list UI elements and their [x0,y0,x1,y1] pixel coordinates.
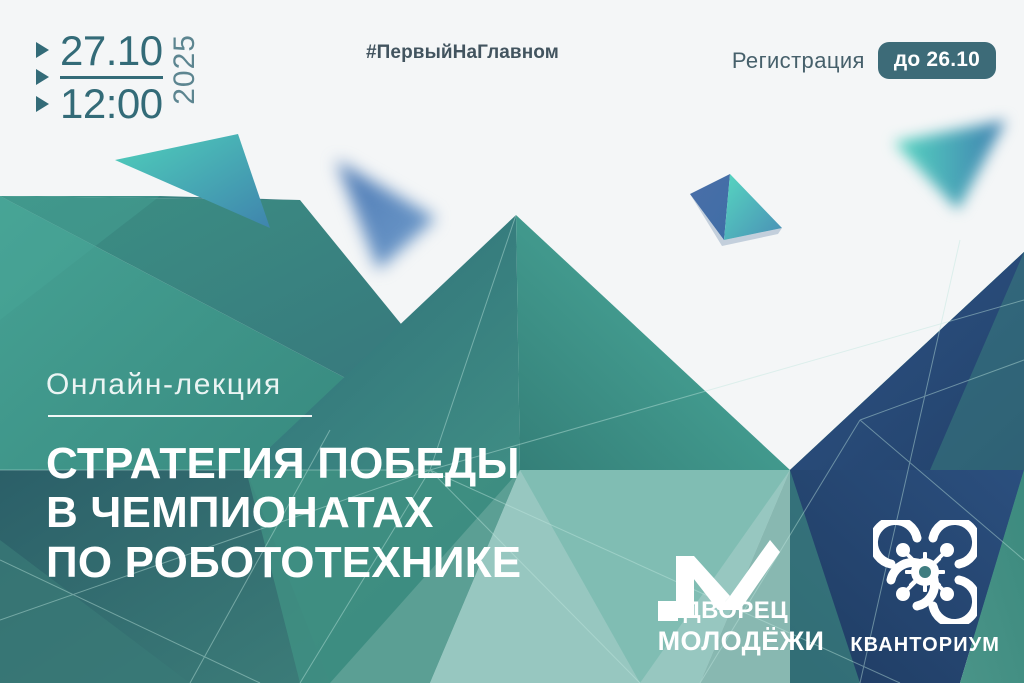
title-divider [48,415,312,417]
event-format-kicker: Онлайн-лекция [46,368,646,401]
event-year: 2025 [170,34,200,105]
logo-row: ДВОРЕЦ МОЛОДЁЖИ [658,520,1000,655]
steel-blue-triangle-icon [318,150,468,280]
hashtag: #ПервыйНаГлавном [366,42,559,64]
logo-dm-line-2: МОЛОДЁЖИ [658,628,825,655]
registration-block: Регистрация до 26.10 [732,42,996,79]
logo-dm-wordmark-row: ДВОРЕЦ [658,599,788,623]
logo-dvorets-molodezhi: ДВОРЕЦ МОЛОДЁЖИ [658,534,825,655]
page-title: СТРАТЕГИЯ ПОБЕДЫ В ЧЕМПИОНАТАХ ПО РОБОТО… [46,439,646,587]
date-time-stack: 27.10 12:00 [60,30,163,126]
play-arrow-icon [36,42,49,58]
event-date: 27.10 [60,30,163,73]
date-divider [60,76,163,79]
registration-label: Регистрация [732,48,865,74]
play-arrow-icon [36,69,49,85]
headline-line-1: СТРАТЕГИЯ ПОБЕДЫ [46,439,646,488]
teal-triangle-top-right-icon [888,112,1018,222]
promo-poster: 27.10 12:00 2025 #ПервыйНаГлавном Регист… [0,0,1024,683]
logo-kvantorium: КВАНТОРИУМ [850,520,1000,655]
event-time: 12:00 [60,83,163,126]
quatrefoil-gear-icon [873,520,977,629]
event-datetime-block: 27.10 12:00 2025 [36,30,200,126]
arrow-bullets [36,30,49,112]
pyramid-3d-icon [682,168,792,268]
play-arrow-icon [36,96,49,112]
square-accent-icon [658,601,678,621]
registration-deadline-badge: до 26.10 [878,42,996,79]
headline-line-2: В ЧЕМПИОНАТАХ [46,488,646,537]
headline-line-3: ПО РОБОТОТЕХНИКЕ [46,538,646,587]
teal-blue-triangle-icon [110,128,300,238]
title-block: Онлайн-лекция СТРАТЕГИЯ ПОБЕДЫ В ЧЕМПИОН… [46,368,646,587]
logo-kv-caption: КВАНТОРИУМ [850,635,1000,655]
logo-dm-line-1: ДВОРЕЦ [684,599,788,623]
